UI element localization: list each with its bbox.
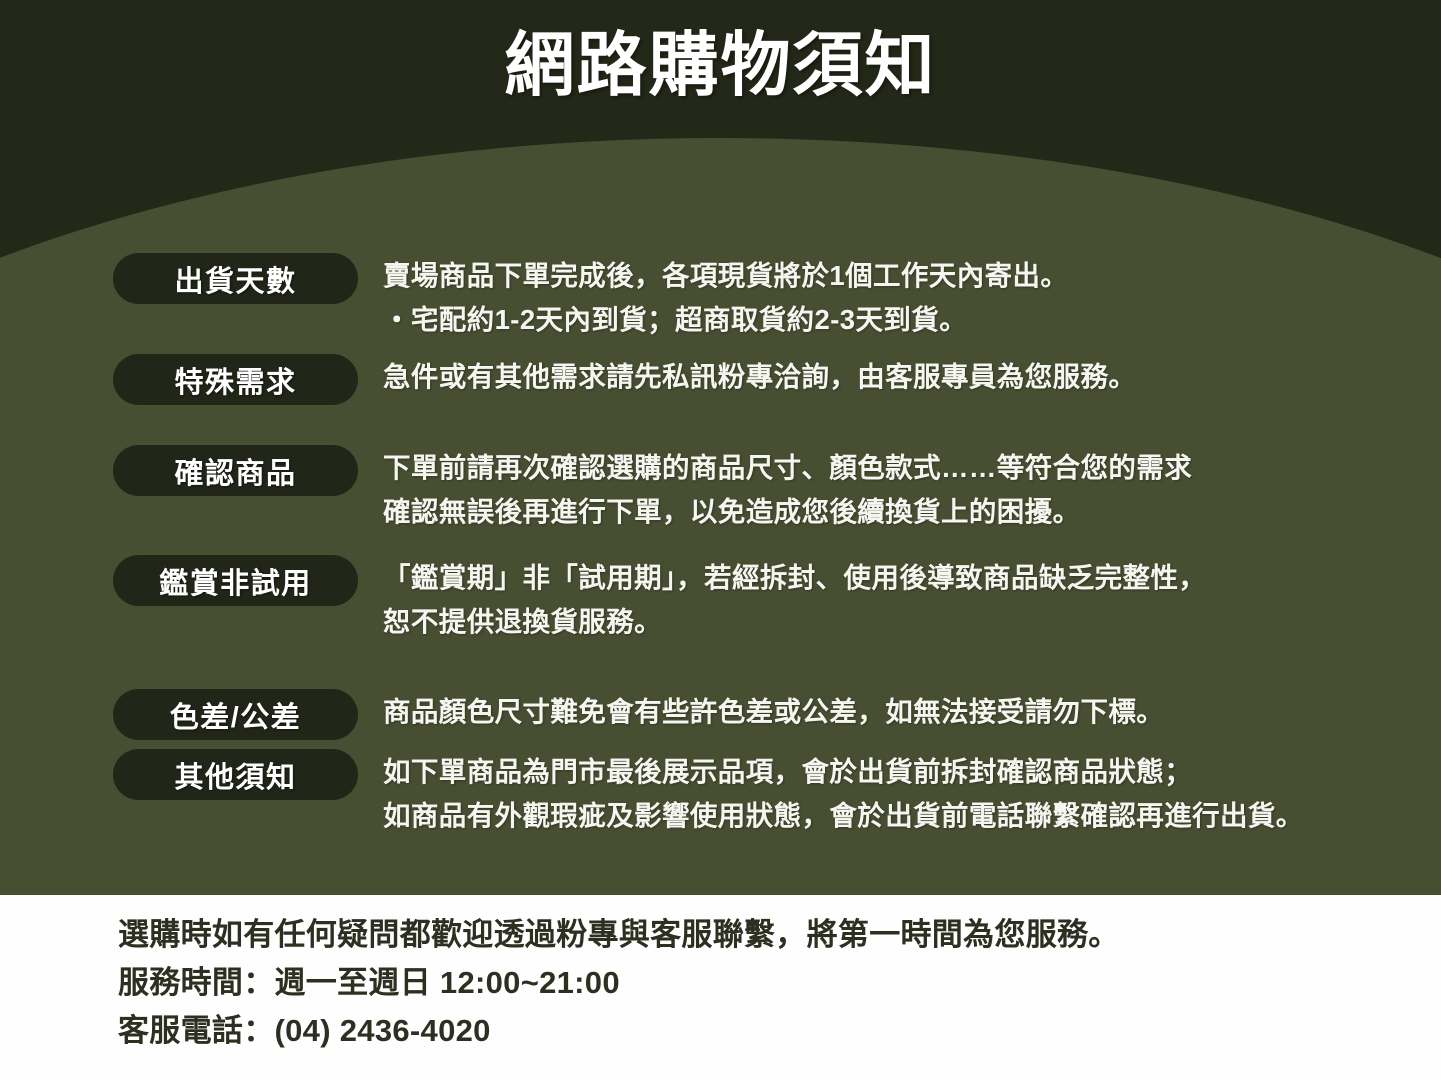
- notice-row-color-tolerance: 色差/公差 商品顏色尺寸難免會有些許色差或公差，如無法接受請勿下標。: [113, 689, 1164, 740]
- footer-line-service-hours: 服務時間：週一至週日 12:00~21:00: [118, 959, 1120, 1007]
- section-body-confirm-product: 下單前請再次確認選購的商品尺寸、顏色款式……等符合您的需求 確認無誤後再進行下單…: [383, 445, 1192, 534]
- notice-row-confirm-product: 確認商品 下單前請再次確認選購的商品尺寸、顏色款式……等符合您的需求 確認無誤後…: [113, 445, 1192, 534]
- body-line: ・宅配約1-2天內到貨；超商取貨約2-3天到貨。: [383, 298, 1068, 342]
- body-line: 如下單商品為門市最後展示品項，會於出貨前拆封確認商品狀態；: [383, 750, 1304, 794]
- body-line: 如商品有外觀瑕疵及影響使用狀態，會於出貨前電話聯繫確認再進行出貨。: [383, 794, 1304, 838]
- section-body-shipping-days: 賣場商品下單完成後，各項現貨將於1個工作天內寄出。 ・宅配約1-2天內到貨；超商…: [383, 253, 1068, 342]
- section-label-color-tolerance: 色差/公差: [113, 689, 358, 740]
- notice-row-special-request: 特殊需求 急件或有其他需求請先私訊粉專洽詢，由客服專員為您服務。: [113, 354, 1136, 405]
- contact-footer-text: 選購時如有任何疑問都歡迎透過粉專與客服聯繫，將第一時間為您服務。 服務時間：週一…: [118, 911, 1120, 1055]
- section-label-shipping-days: 出貨天數: [113, 253, 358, 304]
- section-body-special-request: 急件或有其他需求請先私訊粉專洽詢，由客服專員為您服務。: [383, 354, 1136, 399]
- footer-line-service-phone: 客服電話：(04) 2436-4020: [118, 1007, 1120, 1055]
- section-label-special-request: 特殊需求: [113, 354, 358, 405]
- notice-row-inspection-period: 鑑賞非試用 「鑑賞期」非「試用期」，若經拆封、使用後導致商品缺乏完整性， 恕不提…: [113, 555, 1206, 644]
- section-label-confirm-product: 確認商品: [113, 445, 358, 496]
- section-body-inspection-period: 「鑑賞期」非「試用期」，若經拆封、使用後導致商品缺乏完整性， 恕不提供退換貨服務…: [383, 555, 1206, 644]
- body-line: 下單前請再次確認選購的商品尺寸、顏色款式……等符合您的需求: [383, 446, 1192, 490]
- section-body-other-notes: 如下單商品為門市最後展示品項，會於出貨前拆封確認商品狀態； 如商品有外觀瑕疵及影…: [383, 749, 1304, 838]
- footer-line-contact-invite: 選購時如有任何疑問都歡迎透過粉專與客服聯繫，將第一時間為您服務。: [118, 911, 1120, 959]
- section-label-inspection-period: 鑑賞非試用: [113, 555, 358, 606]
- body-line: 急件或有其他需求請先私訊粉專洽詢，由客服專員為您服務。: [383, 355, 1136, 399]
- notice-banner: 網路購物須知 出貨天數 賣場商品下單完成後，各項現貨將於1個工作天內寄出。 ・宅…: [0, 0, 1441, 1080]
- notice-section-list: 出貨天數 賣場商品下單完成後，各項現貨將於1個工作天內寄出。 ・宅配約1-2天內…: [0, 0, 1441, 895]
- contact-footer: 選購時如有任何疑問都歡迎透過粉專與客服聯繫，將第一時間為您服務。 服務時間：週一…: [0, 895, 1441, 1080]
- notice-row-shipping-days: 出貨天數 賣場商品下單完成後，各項現貨將於1個工作天內寄出。 ・宅配約1-2天內…: [113, 253, 1068, 342]
- notice-row-other-notes: 其他須知 如下單商品為門市最後展示品項，會於出貨前拆封確認商品狀態； 如商品有外…: [113, 749, 1304, 838]
- section-label-other-notes: 其他須知: [113, 749, 358, 800]
- body-line: 賣場商品下單完成後，各項現貨將於1個工作天內寄出。: [383, 254, 1068, 298]
- body-line: 確認無誤後再進行下單，以免造成您後續換貨上的困擾。: [383, 490, 1192, 534]
- body-line: 商品顏色尺寸難免會有些許色差或公差，如無法接受請勿下標。: [383, 690, 1164, 734]
- body-line: 恕不提供退換貨服務。: [383, 600, 1206, 644]
- body-line: 「鑑賞期」非「試用期」，若經拆封、使用後導致商品缺乏完整性，: [383, 556, 1206, 600]
- section-body-color-tolerance: 商品顏色尺寸難免會有些許色差或公差，如無法接受請勿下標。: [383, 689, 1164, 734]
